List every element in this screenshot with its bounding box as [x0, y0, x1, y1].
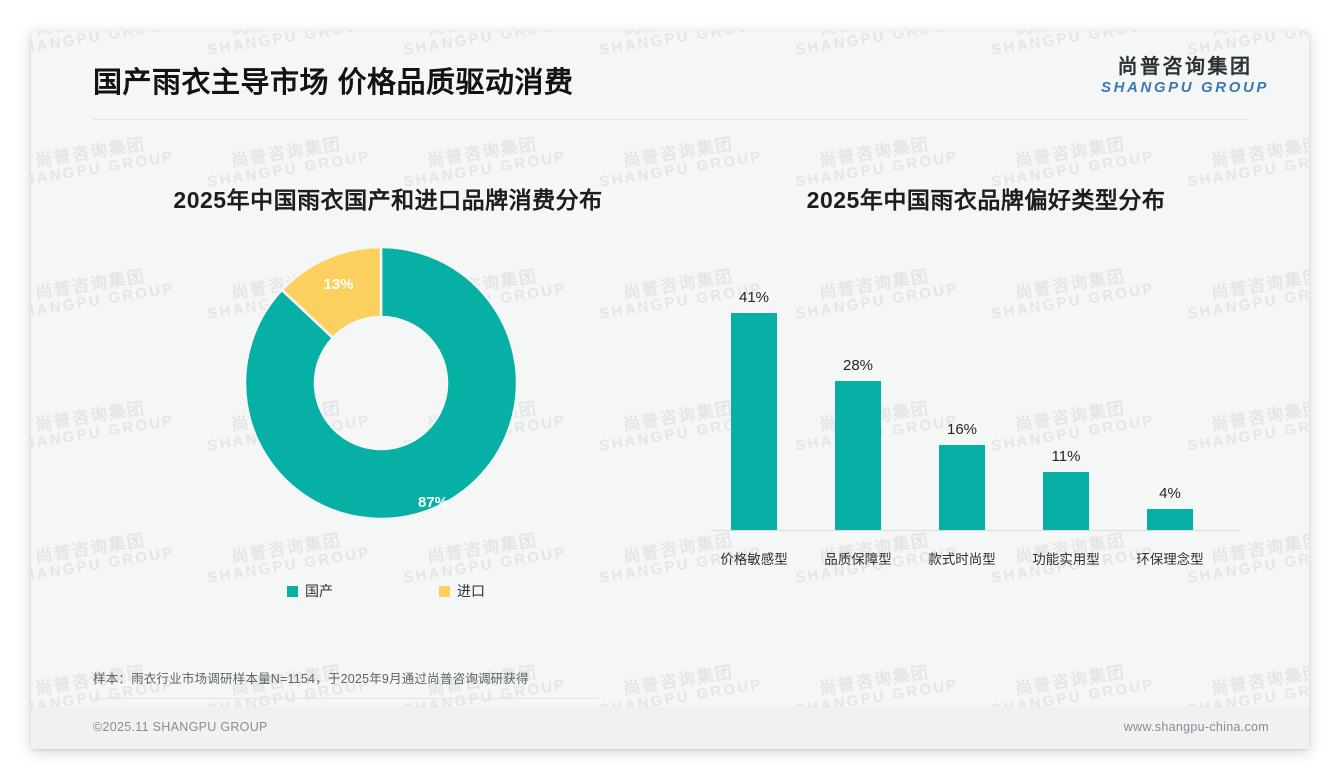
bar-category-label: 价格敏感型 [702, 548, 806, 568]
bar-rect[interactable] [1147, 509, 1193, 530]
bar-value-label: 28% [843, 357, 873, 374]
bar-category-label: 款式时尚型 [910, 548, 1014, 568]
donut-legend: 国产 进口 [81, 581, 681, 601]
page-title: 国产雨衣主导市场 价格品质驱动消费 [93, 59, 574, 101]
bar-value-label: 4% [1159, 485, 1181, 502]
bar-value-label: 41% [739, 289, 769, 306]
charts-container: 2025年中国雨衣国产和进口品牌消费分布 87% 13% 国产 进口 [31, 31, 1309, 749]
legend-swatch-teal-icon [287, 586, 298, 597]
legend-label-guochan: 国产 [305, 581, 333, 601]
slide-card: 尚普咨询集团SHANGPU GROUP尚普咨询集团SHANGPU GROUP尚普… [31, 31, 1309, 749]
bar-column[interactable]: 4% [1147, 485, 1193, 530]
bar-category-label: 环保理念型 [1118, 548, 1222, 568]
bar-rect[interactable] [1043, 472, 1089, 530]
header-divider [93, 119, 1248, 120]
donut-chart-svg: 87% 13% [231, 233, 531, 533]
logo-english-text: SHANGPU GROUP [1101, 79, 1269, 97]
bar-column[interactable]: 28% [835, 357, 881, 530]
bar-value-label: 16% [947, 421, 977, 438]
bar-chart-panel: 2025年中国雨衣品牌偏好类型分布 41%价格敏感型28%品质保障型16%款式时… [691, 181, 1271, 576]
bar-chart-area: 41%价格敏感型28%品质保障型16%款式时尚型11%功能实用型4%环保理念型 [705, 231, 1245, 576]
bar-rect[interactable] [939, 445, 985, 530]
footer-copyright: ©2025.11 SHANGPU GROUP [93, 720, 268, 734]
slide-header: 国产雨衣主导市场 价格品质驱动消费 尚普咨询集团 SHANGPU GROUP [31, 31, 1309, 119]
legend-item-jinkou[interactable]: 进口 [439, 581, 485, 601]
footer-website[interactable]: www.shangpu-china.com [1124, 720, 1269, 734]
bar-column[interactable]: 41% [731, 289, 777, 530]
bar-category-label: 品质保障型 [806, 548, 910, 568]
bar-chart-title: 2025年中国雨衣品牌偏好类型分布 [691, 181, 1271, 215]
bar-rect[interactable] [731, 313, 777, 530]
sample-footnote: 样本：雨衣行业市场调研样本量N=1154，于2025年9月通过尚普咨询调研获得 [93, 668, 529, 687]
bar-column[interactable]: 11% [1043, 448, 1089, 530]
bar-category-label: 功能实用型 [1014, 548, 1118, 568]
donut-slice-label-jinkou: 13% [323, 276, 353, 293]
donut-chart-title: 2025年中国雨衣国产和进口品牌消费分布 [81, 181, 681, 215]
brand-logo: 尚普咨询集团 SHANGPU GROUP [1101, 56, 1269, 97]
bar-rect[interactable] [835, 381, 881, 530]
bar-column[interactable]: 16% [939, 421, 985, 530]
bar-value-label: 11% [1052, 448, 1081, 465]
donut-chart-area: 87% 13% [81, 233, 681, 563]
legend-item-guochan[interactable]: 国产 [287, 581, 333, 601]
donut-slice-label-guochan: 87% [418, 494, 448, 511]
bar-chart-axis-line [711, 530, 1241, 531]
legend-label-jinkou: 进口 [457, 581, 485, 601]
legend-swatch-yellow-icon [439, 586, 450, 597]
footnote-divider [93, 698, 598, 699]
slide-footer: ©2025.11 SHANGPU GROUP www.shangpu-china… [31, 707, 1309, 749]
logo-chinese-text: 尚普咨询集团 [1101, 56, 1269, 79]
donut-chart-panel: 2025年中国雨衣国产和进口品牌消费分布 87% 13% 国产 进口 [81, 181, 681, 601]
